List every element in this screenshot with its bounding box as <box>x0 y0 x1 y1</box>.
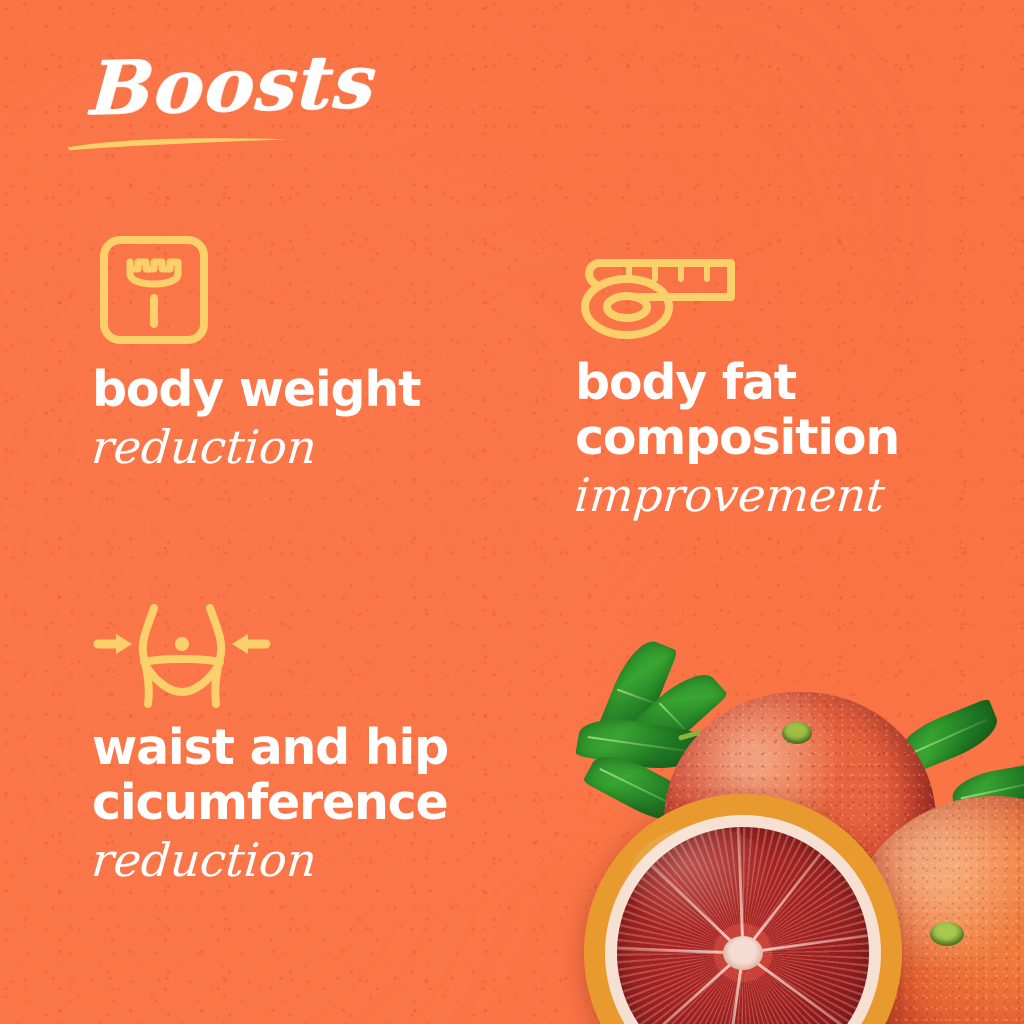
feature-bold-label-line1: body fat <box>575 356 899 411</box>
bathroom-scale-icon <box>92 228 216 352</box>
feature-waist-hip: waist and hip cicumference reduction <box>92 600 448 887</box>
orange-stem-nub <box>930 922 964 946</box>
slim-waist-icon-box <box>92 600 448 715</box>
measuring-tape-icon-box <box>575 245 899 350</box>
feature-body-fat: body fat composition improvement <box>575 245 899 522</box>
blood-oranges-image <box>560 630 1024 1024</box>
title-underline-swoosh <box>64 134 292 152</box>
feature-body-fat-text: body fat composition improvement <box>575 356 899 522</box>
feature-bold-label-line2: composition <box>575 411 899 466</box>
feature-script-label: reduction <box>90 833 451 887</box>
feature-body-weight-text: body weight reduction <box>92 363 420 474</box>
measuring-tape-icon <box>575 245 745 345</box>
title-block: Boosts <box>88 52 508 162</box>
feature-script-label: improvement <box>573 468 902 522</box>
feature-body-weight: body weight reduction <box>92 228 420 474</box>
poster-canvas: Boosts body weight reduction <box>0 0 1024 1024</box>
slim-waist-icon <box>92 600 272 710</box>
bathroom-scale-icon-box <box>92 228 420 357</box>
orange-core <box>723 936 763 970</box>
feature-bold-label-line1: waist and hip <box>92 721 448 776</box>
orange-stem-nub <box>782 722 812 744</box>
feature-bold-label: body weight <box>92 363 420 418</box>
page-title: Boosts <box>88 41 515 126</box>
feature-bold-label-line2: cicumference <box>92 776 448 831</box>
feature-script-label: reduction <box>90 420 423 474</box>
feature-waist-hip-text: waist and hip cicumference reduction <box>92 721 448 887</box>
